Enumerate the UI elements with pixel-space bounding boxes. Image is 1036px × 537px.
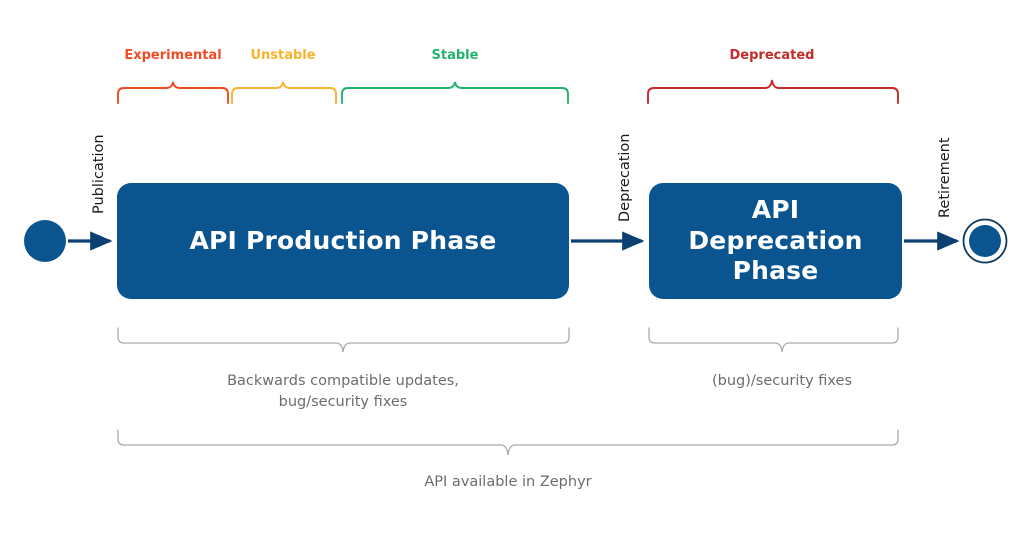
stability-label-deprecated: Deprecated	[730, 48, 815, 63]
transition-label-deprecation: Deprecation	[617, 134, 633, 223]
stability-label-unstable: Unstable	[250, 48, 315, 63]
brace-experimental	[118, 82, 228, 103]
brace-api-available	[118, 430, 898, 455]
annotation-api-available: API available in Zephyr	[424, 472, 591, 493]
phase-box-production[interactable]: API Production Phase	[117, 183, 569, 299]
annotation-backwards-compatible: Backwards compatible updates, bug/securi…	[227, 371, 459, 413]
transition-label-publication: Publication	[91, 134, 107, 214]
api-lifecycle-diagram: API Production Phase API Deprecation Pha…	[0, 0, 1036, 537]
stability-label-stable: Stable	[432, 48, 479, 63]
annotation-bug-security-fixes: (bug)/security fixes	[712, 371, 852, 392]
end-node	[964, 220, 1007, 263]
start-node	[24, 220, 66, 262]
phase-box-deprecation-label: API Deprecation Phase	[663, 195, 888, 287]
brace-unstable	[232, 82, 336, 103]
stability-label-experimental: Experimental	[124, 48, 221, 63]
brace-stable	[342, 82, 568, 103]
brace-deprecated	[648, 80, 898, 103]
brace-backwards-compatible	[118, 328, 569, 352]
transition-label-retirement: Retirement	[937, 137, 953, 218]
phase-box-deprecation[interactable]: API Deprecation Phase	[649, 183, 902, 299]
phase-box-production-label: API Production Phase	[189, 226, 496, 257]
brace-bug-security	[649, 328, 898, 352]
